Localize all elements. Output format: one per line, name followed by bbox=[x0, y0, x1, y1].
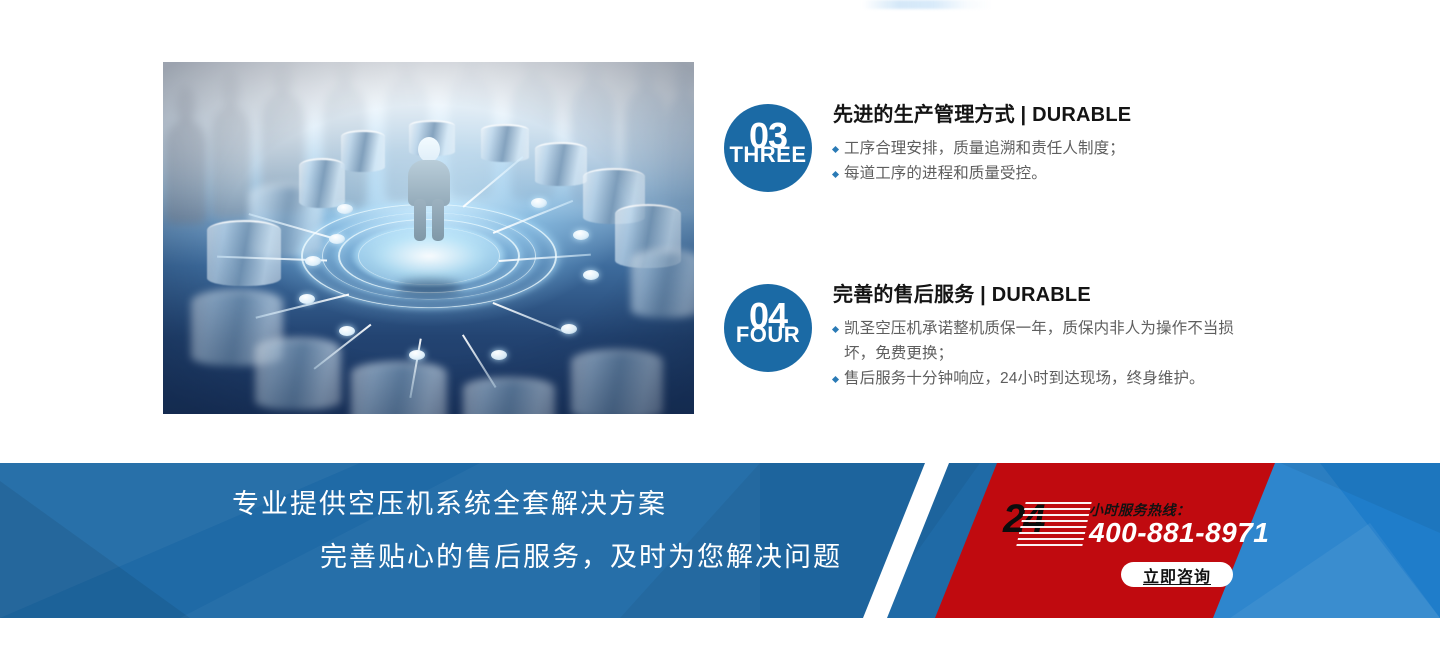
feature-bullet-list: 凯圣空压机承诺整机质保一年，质保内非人为操作不当损坏，免费更换； 售后服务十分钟… bbox=[833, 316, 1245, 391]
network-concept-image bbox=[163, 62, 694, 414]
banner-slogan-line-2: 完善贴心的售后服务，及时为您解决问题 bbox=[320, 544, 842, 571]
page-root: 03 THREE 先进的生产管理方式 | DURABLE 工序合理安排，质量追溯… bbox=[0, 0, 1440, 663]
feature-block-03: 03 THREE 先进的生产管理方式 | DURABLE 工序合理安排，质量追溯… bbox=[724, 104, 1131, 192]
pedestal bbox=[207, 220, 281, 286]
network-node bbox=[339, 326, 355, 336]
network-node bbox=[561, 324, 577, 334]
hotline-block: 24 小时服务热线： 400-881-8971 立即咨询 bbox=[1003, 500, 1263, 556]
feature-badge-04: 04 FOUR bbox=[724, 284, 812, 372]
list-item: 每道工序的进程和质量受控。 bbox=[833, 161, 1131, 186]
pedestal bbox=[571, 350, 663, 414]
feature-block-04: 04 FOUR 完善的售后服务 | DURABLE 凯圣空压机承诺整机质保一年，… bbox=[724, 284, 1245, 391]
consult-now-button[interactable]: 立即咨询 bbox=[1121, 562, 1233, 587]
network-node bbox=[299, 294, 315, 304]
list-item: 凯圣空压机承诺整机质保一年，质保内非人为操作不当损坏，免费更换； bbox=[833, 316, 1245, 366]
pedestal bbox=[535, 142, 587, 186]
pedestal bbox=[299, 158, 345, 208]
network-node bbox=[583, 270, 599, 280]
pedestal bbox=[631, 250, 694, 318]
network-node bbox=[337, 204, 353, 214]
badge-word: FOUR bbox=[724, 324, 812, 346]
top-edge-sliver bbox=[862, 0, 992, 9]
pedestal bbox=[463, 378, 555, 414]
network-node bbox=[305, 256, 321, 266]
pedestal bbox=[351, 362, 447, 414]
central-person-icon bbox=[407, 137, 451, 241]
network-node bbox=[409, 350, 425, 360]
pedestal bbox=[255, 338, 341, 410]
network-node bbox=[531, 198, 547, 208]
feature-bullet-list: 工序合理安排，质量追溯和责任人制度； 每道工序的进程和质量受控。 bbox=[833, 136, 1131, 186]
feature-title: 先进的生产管理方式 | DURABLE bbox=[833, 104, 1131, 127]
pedestal bbox=[341, 130, 385, 172]
feature-title: 完善的售后服务 | DURABLE bbox=[833, 284, 1245, 307]
banner-slogan-line-1: 专业提供空压机系统全套解决方案 bbox=[232, 491, 842, 518]
list-item: 售后服务十分钟响应，24小时到达现场，终身维护。 bbox=[833, 366, 1245, 391]
list-item: 工序合理安排，质量追溯和责任人制度； bbox=[833, 136, 1131, 161]
network-node bbox=[491, 350, 507, 360]
avatar-shadow bbox=[397, 280, 461, 296]
network-node bbox=[329, 234, 345, 244]
hotline-phone-number: 400-881-8971 bbox=[1089, 517, 1269, 549]
hotline-hours: 24 bbox=[1003, 499, 1044, 539]
network-link bbox=[493, 302, 568, 333]
network-node bbox=[573, 230, 589, 240]
banner-slogan: 专业提供空压机系统全套解决方案 完善贴心的售后服务，及时为您解决问题 bbox=[232, 491, 842, 571]
feature-badge-03: 03 THREE bbox=[724, 104, 812, 192]
badge-word: THREE bbox=[724, 144, 812, 166]
